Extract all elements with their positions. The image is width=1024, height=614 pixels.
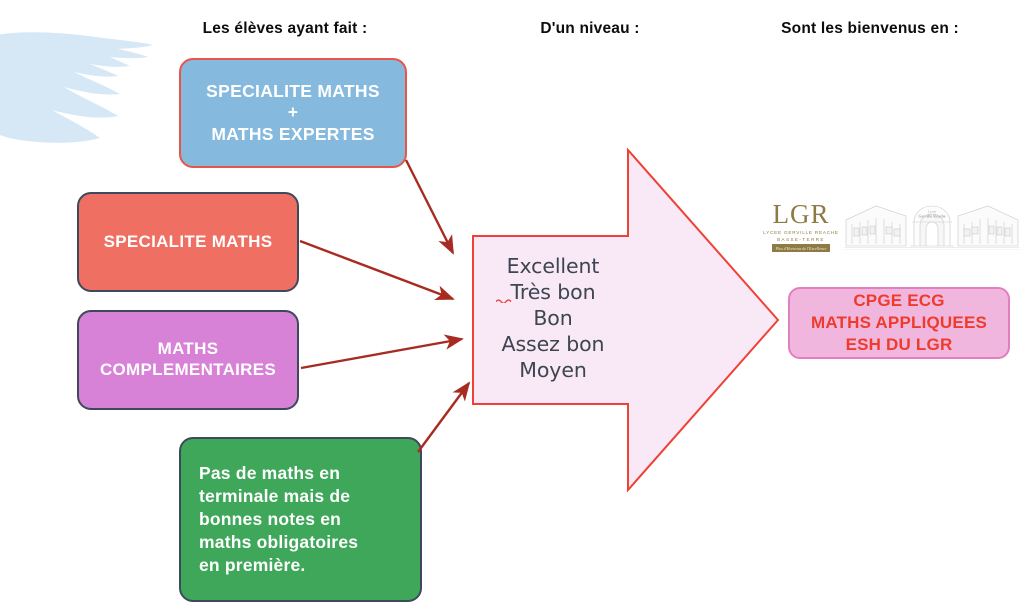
school-building-illustration: Lycée Gerville Réache — [844, 198, 1020, 254]
box-line: MATHS — [79, 339, 297, 360]
lgr-line2: BASSE-TERRE — [777, 237, 825, 242]
diagram-canvas: Les élèves ayant fait : D'un niveau : So… — [0, 0, 1024, 614]
box-label: Pas de maths en terminale mais de bonnes… — [199, 462, 420, 577]
box-label: SPECIALITE MATHS + MATHS EXPERTES — [181, 81, 405, 145]
lgr-banner-text: Plus d'Horizons de l'Excellence — [775, 246, 827, 251]
box-line: ESH DU LGR — [811, 334, 987, 356]
column-header-level: D'un niveau : — [500, 20, 680, 38]
watercolor-brush-decoration — [0, 28, 180, 163]
box-specialite-maths-expertes[interactable]: SPECIALITE MATHS + MATHS EXPERTES — [179, 58, 407, 168]
box-line: + — [181, 102, 405, 123]
lgr-letters: LGR — [773, 199, 830, 229]
building-sign-line2: Gerville Réache — [918, 214, 945, 219]
box-label: MATHS COMPLEMENTAIRES — [79, 339, 297, 380]
box-maths-complementaires[interactable]: MATHS COMPLEMENTAIRES — [77, 310, 299, 410]
box-cpge-ecg[interactable]: CPGE ECG MATHS APPLIQUEES ESH DU LGR — [788, 287, 1010, 359]
box-line: MATHS APPLIQUEES — [811, 312, 987, 334]
connector-arrow-1 — [406, 160, 453, 253]
level-list: Excellent Très bon Bon Assez bon Moyen — [478, 253, 628, 383]
box-line: maths obligatoires — [199, 531, 420, 554]
connector-arrow-2 — [300, 241, 453, 299]
level-item-tres-bon: Très bon — [478, 279, 628, 305]
level-item: Excellent — [478, 253, 628, 279]
lgr-logo: LGR LYCEE GERVILLE REACHE BASSE-TERRE Pl… — [762, 196, 1020, 258]
box-line: MATHS EXPERTES — [181, 124, 405, 145]
lgr-monogram-icon: LGR LYCEE GERVILLE REACHE BASSE-TERRE Pl… — [762, 196, 840, 254]
box-label: CPGE ECG MATHS APPLIQUEES ESH DU LGR — [811, 290, 987, 356]
level-item-label: Très bon — [510, 280, 595, 304]
lgr-line1: LYCEE GERVILLE REACHE — [763, 230, 839, 235]
box-line: en première. — [199, 554, 420, 577]
box-line: Pas de maths en — [199, 462, 420, 485]
level-item: Assez bon — [478, 331, 628, 357]
connector-arrow-3 — [301, 339, 462, 368]
box-pas-de-maths[interactable]: Pas de maths en terminale mais de bonnes… — [179, 437, 422, 602]
box-specialite-maths[interactable]: SPECIALITE MATHS — [77, 192, 299, 292]
box-line: CPGE ECG — [811, 290, 987, 312]
box-line: SPECIALITE MATHS — [181, 81, 405, 102]
box-line: COMPLEMENTAIRES — [79, 360, 297, 381]
column-header-students: Les élèves ayant fait : — [175, 20, 395, 38]
box-line: SPECIALITE MATHS — [79, 232, 297, 253]
box-label: SPECIALITE MATHS — [79, 232, 297, 253]
column-header-welcome: Sont les bienvenus en : — [740, 20, 1000, 38]
level-item: Moyen — [478, 357, 628, 383]
level-item: Bon — [478, 305, 628, 331]
box-line: bonnes notes en — [199, 508, 420, 531]
box-line: terminale mais de — [199, 485, 420, 508]
